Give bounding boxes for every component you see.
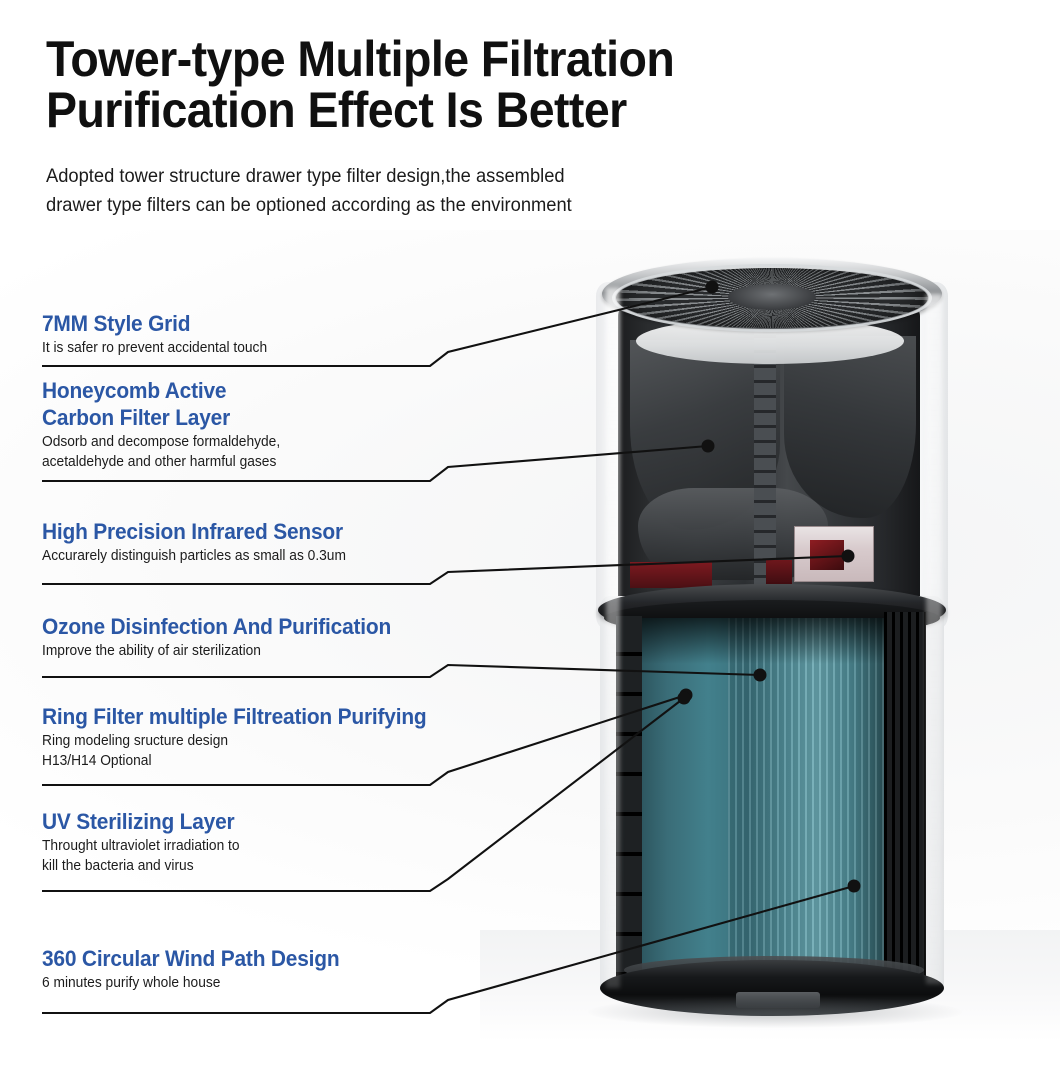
feature-desc-uv: Throught ultraviolet irradiation to kill… [42,837,240,876]
feature-block-ozone[interactable]: Ozone Disinfection And Purification Impr… [42,613,409,662]
feature-title-carbon: Honeycomb Active Carbon Filter Layer [42,377,280,431]
feature-desc-carbon: Odsorb and decompose formaldehyde, aceta… [42,433,280,472]
feature-desc-ozone: Improve the ability of air sterilization [42,642,391,662]
feature-block-carbon[interactable]: Honeycomb Active Carbon Filter Layer Ods… [42,377,293,472]
feature-title-sensor: High Precision Infrared Sensor [42,518,346,545]
feature-desc-ring: Ring modeling sructure design H13/H14 Op… [42,732,426,771]
dot-ozone [754,669,767,682]
dot-wind [848,880,861,893]
feature-title-ozone: Ozone Disinfection And Purification [42,613,391,640]
callout-dots [678,281,861,893]
dot-sensor [842,550,855,563]
feature-title-grid: 7MM Style Grid [42,310,267,337]
dot-grid [706,281,719,294]
feature-block-ring[interactable]: Ring Filter multiple Filtreation Purifyi… [42,703,447,771]
feature-desc-wind: 6 minutes purify whole house [42,974,339,994]
infographic-canvas: Tower-type Multiple Filtration Purificat… [0,0,1060,1074]
feature-desc-sensor: Accurarely distinguish particles as smal… [42,547,346,567]
feature-block-uv[interactable]: UV Sterilizing Layer Throught ultraviole… [42,808,250,876]
feature-block-wind[interactable]: 360 Circular Wind Path Design 6 minutes … [42,945,355,994]
dot-uv [678,692,691,705]
leader-ozone [42,665,760,677]
feature-block-grid[interactable]: 7MM Style Grid It is safer ro prevent ac… [42,310,279,359]
feature-desc-grid: It is safer ro prevent accidental touch [42,339,267,359]
feature-title-wind: 360 Circular Wind Path Design [42,945,339,972]
dot-carbon [702,440,715,453]
feature-title-uv: UV Sterilizing Layer [42,808,240,835]
feature-block-sensor[interactable]: High Precision Infrared Sensor Accurarel… [42,518,362,567]
feature-title-ring: Ring Filter multiple Filtreation Purifyi… [42,703,426,730]
